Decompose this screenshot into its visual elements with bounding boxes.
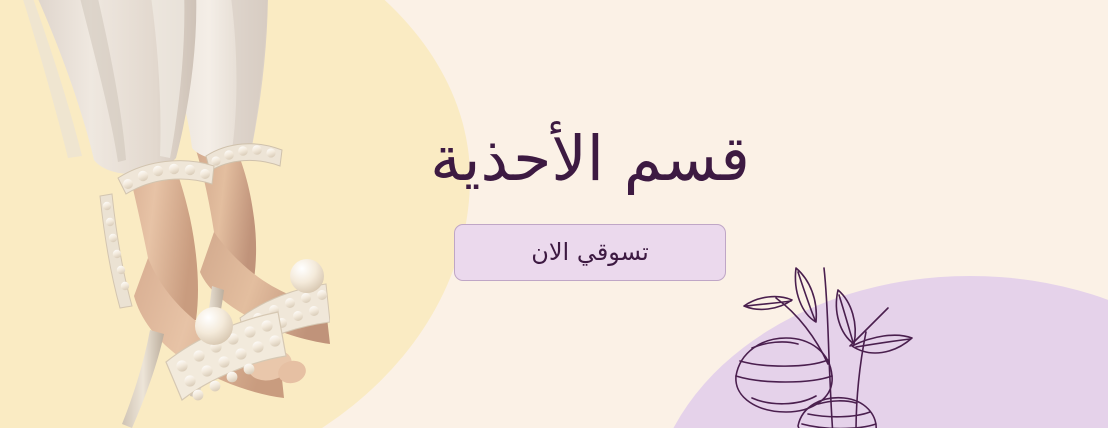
cta-row: تسوقي الان (380, 224, 800, 281)
banner-content: قسم الأحذية تسوقي الان (380, 120, 800, 281)
promo-banner: قسم الأحذية تسوقي الان (0, 0, 1108, 428)
heels-photo (0, 0, 330, 428)
page-title: قسم الأحذية (380, 120, 800, 198)
shop-now-button[interactable]: تسوقي الان (454, 224, 726, 281)
